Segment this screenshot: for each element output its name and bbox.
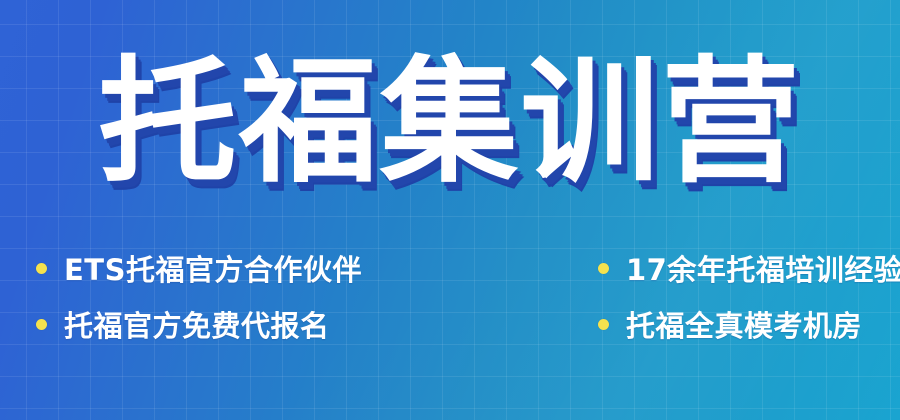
feature-label: ETS托福官方合作伙伴: [64, 247, 362, 289]
dot-bullet-icon: [36, 319, 47, 330]
feature-item-3: 托福官方免费代报名: [0, 296, 480, 352]
page-title: 托福集训营: [98, 52, 802, 195]
promo-banner: 托福集训营 ETS托福官方合作伙伴 17余年托福培训经验 托福官方免费代报名 托…: [0, 0, 900, 420]
headline-container: 托福集训营: [0, 52, 900, 195]
feature-label: 托福官方免费代报名: [64, 303, 330, 345]
dot-bullet-icon: [598, 263, 609, 274]
feature-list: ETS托福官方合作伙伴 17余年托福培训经验 托福官方免费代报名 托福全真模考机…: [0, 240, 900, 352]
feature-label: 17余年托福培训经验: [626, 247, 900, 289]
feature-item-4: 托福全真模考机房: [480, 296, 900, 352]
dot-bullet-icon: [36, 263, 47, 274]
feature-item-1: ETS托福官方合作伙伴: [0, 240, 480, 296]
dot-bullet-icon: [598, 319, 609, 330]
feature-label: 托福全真模考机房: [626, 303, 862, 345]
feature-item-2: 17余年托福培训经验: [480, 240, 900, 296]
